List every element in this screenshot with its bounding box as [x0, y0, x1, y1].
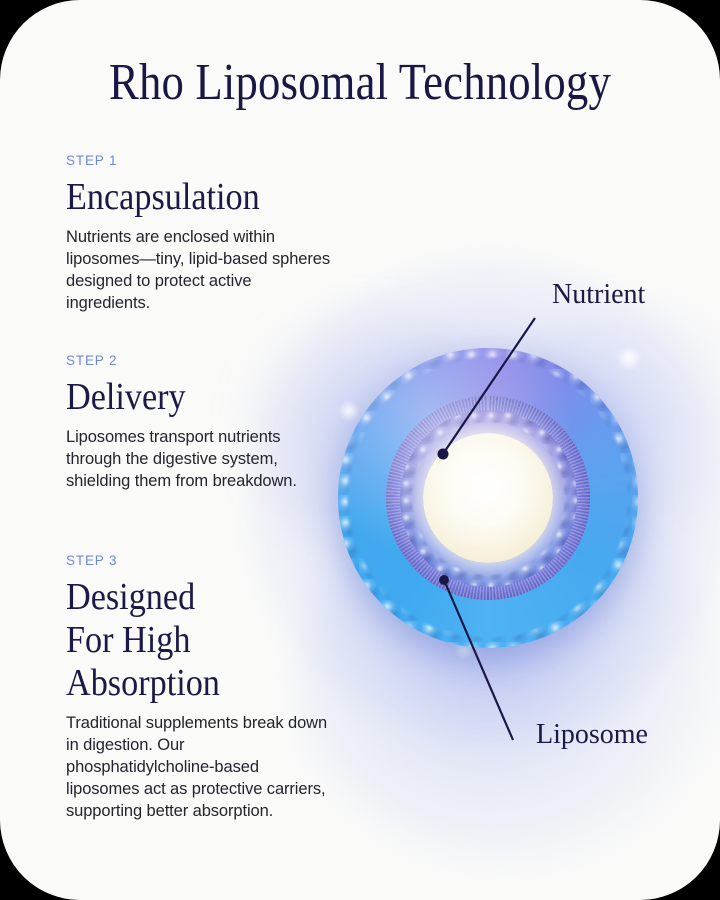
step-body-3: Traditional supplements break down in di… — [66, 712, 334, 822]
step-heading-2: Delivery — [66, 376, 307, 419]
infographic-card: Rho Liposomal Technology STEP 1 Encapsul… — [0, 0, 720, 900]
step-heading-3: Designed For High Absorption — [66, 576, 307, 705]
step-body-2: Liposomes transport nutrients through th… — [66, 426, 334, 492]
step-block-3: STEP 3 Designed For High Absorption Trad… — [66, 552, 334, 822]
step-heading-1: Encapsulation — [66, 176, 307, 219]
step-label-3: STEP 3 — [66, 552, 334, 569]
inner-phospholipid-ring — [400, 410, 577, 587]
step-block-1: STEP 1 Encapsulation Nutrients are enclo… — [66, 152, 334, 314]
step-body-1: Nutrients are enclosed within liposomes—… — [66, 226, 334, 314]
page-title: Rho Liposomal Technology — [50, 52, 669, 114]
step-block-2: STEP 2 Delivery Liposomes transport nutr… — [66, 352, 334, 492]
liposome-body — [338, 348, 638, 648]
step-label-1: STEP 1 — [66, 152, 334, 169]
step-label-2: STEP 2 — [66, 352, 334, 369]
callout-label-liposome: Liposome — [536, 720, 648, 750]
callout-label-nutrient: Nutrient — [552, 280, 645, 310]
liposome-illustration — [338, 348, 638, 648]
